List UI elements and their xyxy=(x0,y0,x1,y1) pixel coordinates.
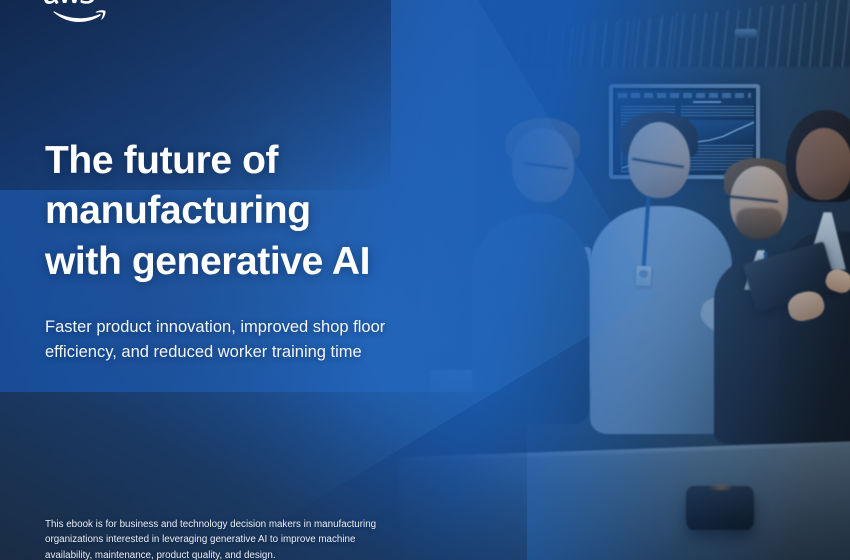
cover-content: The future of manufacturing with generat… xyxy=(0,0,850,560)
page-title: The future of manufacturing with generat… xyxy=(45,136,445,287)
page-subtitle: Faster product innovation, improved shop… xyxy=(45,315,437,365)
audience-blurb: This ebook is for business and technolog… xyxy=(45,517,413,560)
aws-logo-icon xyxy=(44,0,106,26)
ebook-cover: The future of manufacturing with generat… xyxy=(0,0,850,560)
